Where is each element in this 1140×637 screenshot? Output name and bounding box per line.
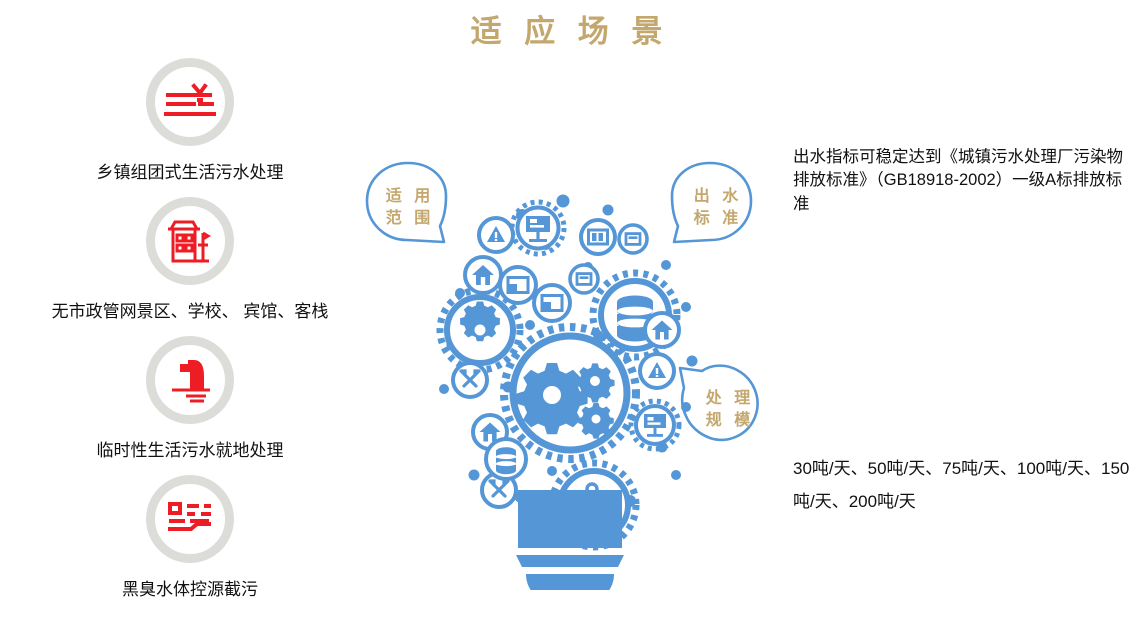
database-icon xyxy=(486,439,526,479)
icon-ring xyxy=(146,58,234,146)
scenario-infographic: 适 应 场 景 乡镇组团式生活污水处理 xyxy=(0,0,1140,637)
list-item[interactable]: 临时性生活污水就地处理 xyxy=(0,336,380,475)
bulb-base xyxy=(516,490,624,590)
black-odorous-water-icon xyxy=(165,499,215,539)
window-icon xyxy=(500,267,536,303)
icon-ring xyxy=(146,336,234,424)
discharge-pipe-icon xyxy=(166,356,214,404)
scenario-list: 乡镇组团式生活污水处理 xyxy=(0,58,380,614)
warning-triangle-icon xyxy=(640,354,674,388)
callout-line-2: 范 围 xyxy=(382,208,434,230)
warning-triangle-icon xyxy=(479,218,513,252)
window-icon xyxy=(570,265,598,293)
wrench-screwdriver-icon xyxy=(453,363,487,397)
village-houses-icon xyxy=(164,80,216,124)
window-icon xyxy=(534,285,570,321)
icon-ring xyxy=(146,197,234,285)
treatment-capacity-text: 30吨/天、50吨/天、75吨/天、100吨/天、150吨/天、200吨/天 xyxy=(793,452,1133,518)
icon-ring xyxy=(146,475,234,563)
presentation-board-icon xyxy=(512,202,564,254)
callout-line-1: 适 用 xyxy=(382,186,434,208)
list-item[interactable]: 无市政管网景区、学校、 宾馆、客栈 xyxy=(0,197,380,336)
window-icon xyxy=(619,225,647,253)
home-icon xyxy=(645,313,679,347)
list-item[interactable]: 黑臭水体控源截污 xyxy=(0,475,380,614)
page-title: 适 应 场 景 xyxy=(0,6,1140,51)
lightbulb-gears-illustration xyxy=(430,175,710,590)
home-icon xyxy=(465,257,501,293)
window-icon xyxy=(581,220,615,254)
list-item-label: 黑臭水体控源截污 xyxy=(0,575,380,600)
list-item-label: 乡镇组团式生活污水处理 xyxy=(0,158,380,183)
list-item[interactable]: 乡镇组团式生活污水处理 xyxy=(0,58,380,197)
list-item-label: 无市政管网景区、学校、 宾馆、客栈 xyxy=(0,297,380,322)
list-item-label: 临时性生活污水就地处理 xyxy=(0,436,380,461)
presentation-board-icon xyxy=(631,401,679,449)
effluent-standard-text: 出水指标可稳定达到《城镇污水处理厂污染物排放标准》（GB18918-2002）一… xyxy=(793,146,1123,216)
building-school-icon xyxy=(165,217,215,265)
